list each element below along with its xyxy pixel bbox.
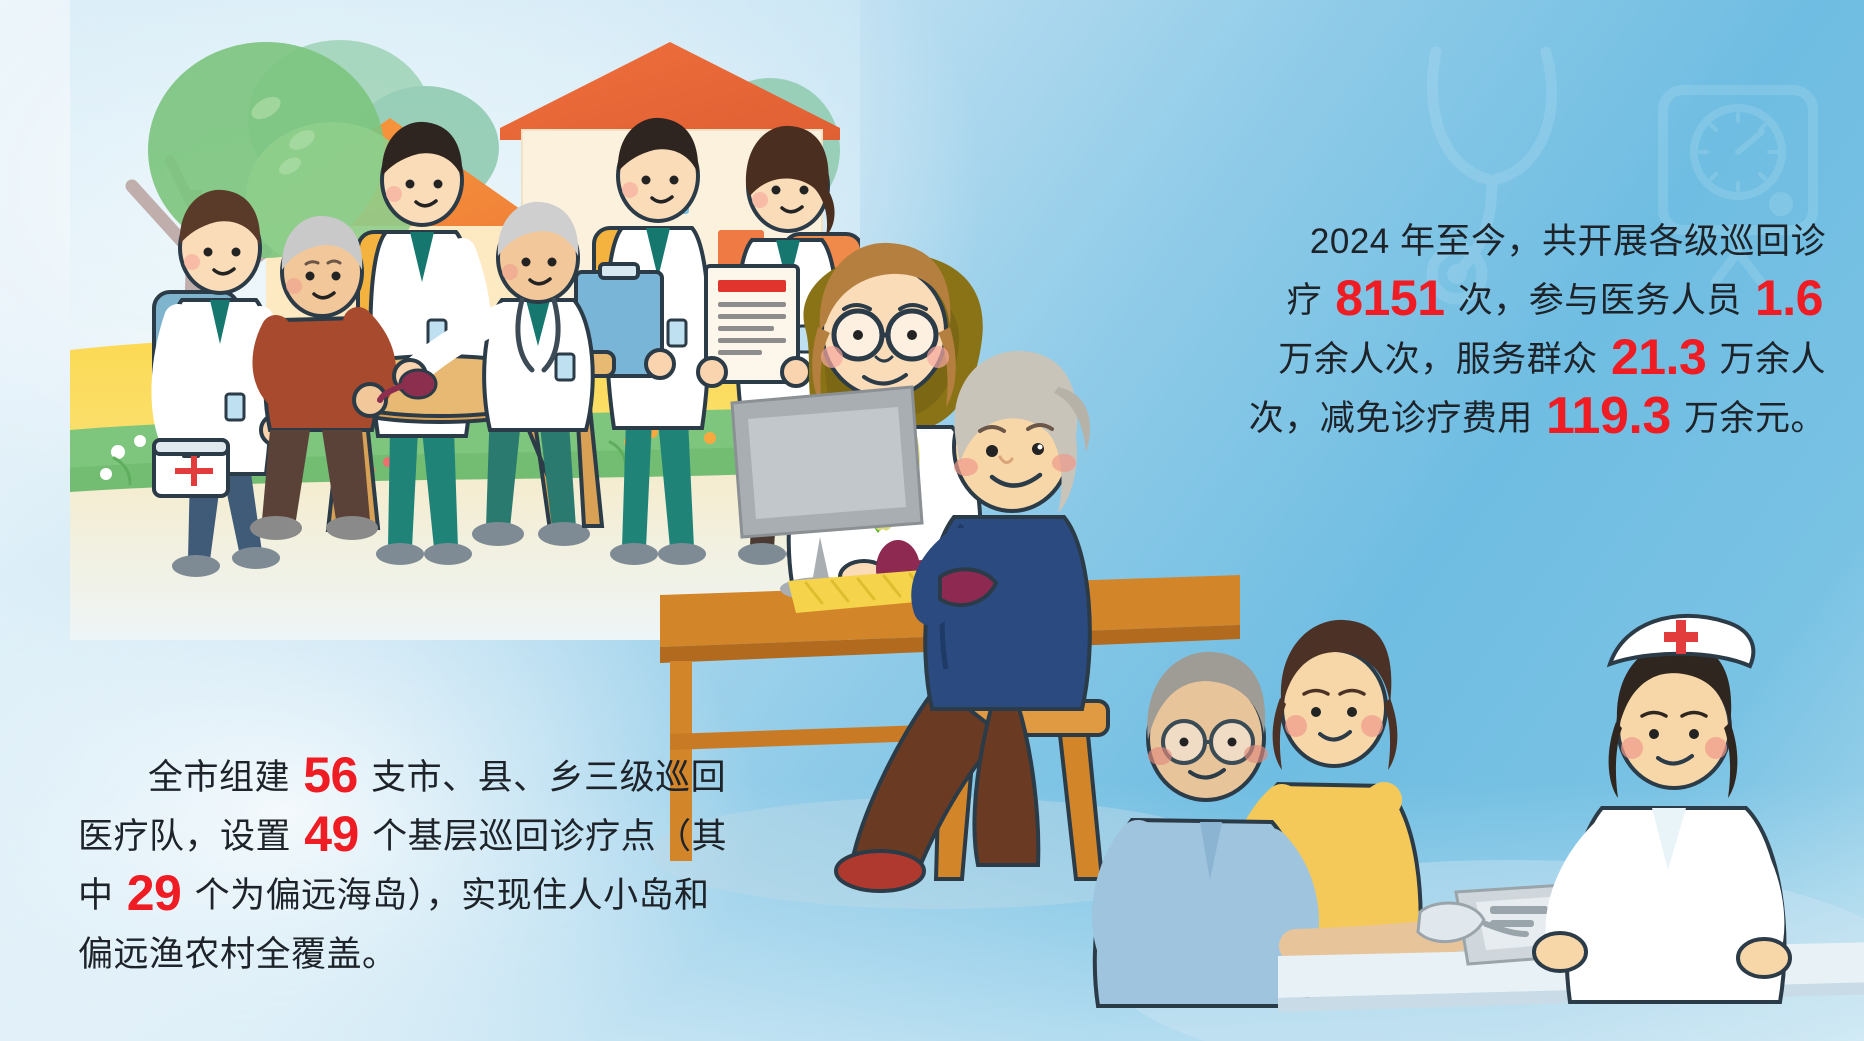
medical-kit-icon [154,440,228,496]
stats-left-l4-text: 偏远渔农村全覆盖。 [78,935,398,974]
stats-right-line-4: 次，减免诊疗费用 119.3 万余元。 [1249,389,1826,448]
stats-right-l4-suffix: 万余元。 [1674,399,1826,438]
stats-paragraph-left: 全市组建 56 支市、县、乡三级巡回 医疗队，设置 49 个基层巡回诊疗点（其 … [78,748,727,984]
stats-left-l2-prefix: 医疗队，设置 [78,817,301,856]
stats-left-l2-suffix: 个基层巡回诊疗点（其 [362,817,727,856]
nurse [1534,616,1790,1002]
stat-value-teams: 56 [300,747,361,803]
stat-value-staff: 1.6 [1752,270,1826,326]
stat-value-people-served: 21.3 [1608,329,1709,385]
stats-right-l4-prefix: 次，减免诊疗费用 [1249,399,1543,438]
stats-left-l3-suffix: 个为偏远海岛），实现住人小岛和 [184,876,709,915]
stat-value-remote-islands: 29 [124,865,185,921]
stats-right-line-3: 万余人次，服务群众 21.3 万余人 [1249,330,1826,389]
stats-right-line-1: 2024 年至今，共开展各级巡回诊 [1249,212,1826,271]
stats-right-l2-mid: 次，参与医务人员 [1448,281,1752,320]
stats-right-l3-prefix: 万余人次，服务群众 [1278,340,1608,379]
stats-left-l1-suffix: 支市、县、乡三级巡回 [361,758,726,797]
stats-left-l1-prefix: 全市组建 [148,758,300,797]
stat-value-fees-waived: 119.3 [1543,387,1674,445]
home-visit-scene-illustration [1090,540,1864,1040]
infographic-canvas: 2024 年至今，共开展各级巡回诊 疗 8151 次，参与医务人员 1.6 万余… [0,0,1864,1041]
stats-left-l3-prefix: 中 [78,876,124,915]
stats-paragraph-right: 2024 年至今，共开展各级巡回诊 疗 8151 次，参与医务人员 1.6 万余… [1249,212,1826,448]
stat-value-sites: 49 [301,806,362,862]
stats-right-l2-prefix: 疗 [1287,281,1333,320]
stats-left-line-2: 医疗队，设置 49 个基层巡回诊疗点（其 [78,807,727,866]
stats-left-line-3: 中 29 个为偏远海岛），实现住人小岛和 [78,866,727,925]
stats-right-l3-suffix: 万余人 [1709,340,1826,379]
stats-right-line-2: 疗 8151 次，参与医务人员 1.6 [1249,271,1826,330]
stat-value-visits: 8151 [1332,270,1447,326]
stats-right-l1-text: 2024 年至今，共开展各级巡回诊 [1310,222,1826,261]
stats-left-line-4: 偏远渔农村全覆盖。 [78,925,727,984]
stats-left-line-1: 全市组建 56 支市、县、乡三级巡回 [78,748,727,807]
